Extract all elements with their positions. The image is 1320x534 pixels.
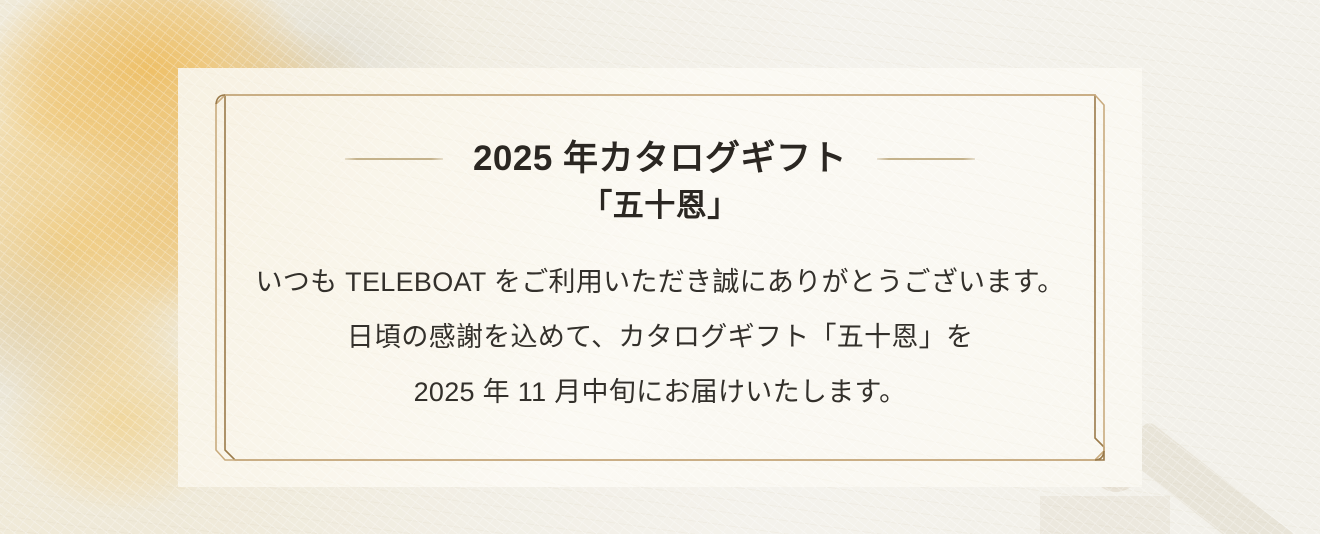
page-title: 2025 年カタログギフト [473, 141, 847, 176]
body-text: いつも TELEBOAT をご利用いただき誠にありがとうございます。 日頃の感謝… [255, 255, 1064, 420]
title-row: 2025 年カタログギフト [345, 141, 975, 176]
announcement-card: 2025 年カタログギフト 「五十恩」 いつも TELEBOAT をご利用いただ… [178, 68, 1142, 487]
title-rule-left [345, 158, 443, 160]
body-line: いつも TELEBOAT をご利用いただき誠にありがとうございます。 [255, 255, 1064, 310]
body-line: 日頃の感謝を込めて、カタログギフト「五十恩」を [347, 310, 974, 365]
body-line: 2025 年 11 月中旬にお届けいたします。 [414, 365, 907, 420]
card-content: 2025 年カタログギフト 「五十恩」 いつも TELEBOAT をご利用いただ… [178, 68, 1142, 487]
announcement-page: 2025 年カタログギフト 「五十恩」 いつも TELEBOAT をご利用いただ… [0, 0, 1320, 534]
page-subtitle: 「五十恩」 [581, 190, 739, 221]
title-rule-right [877, 158, 975, 160]
